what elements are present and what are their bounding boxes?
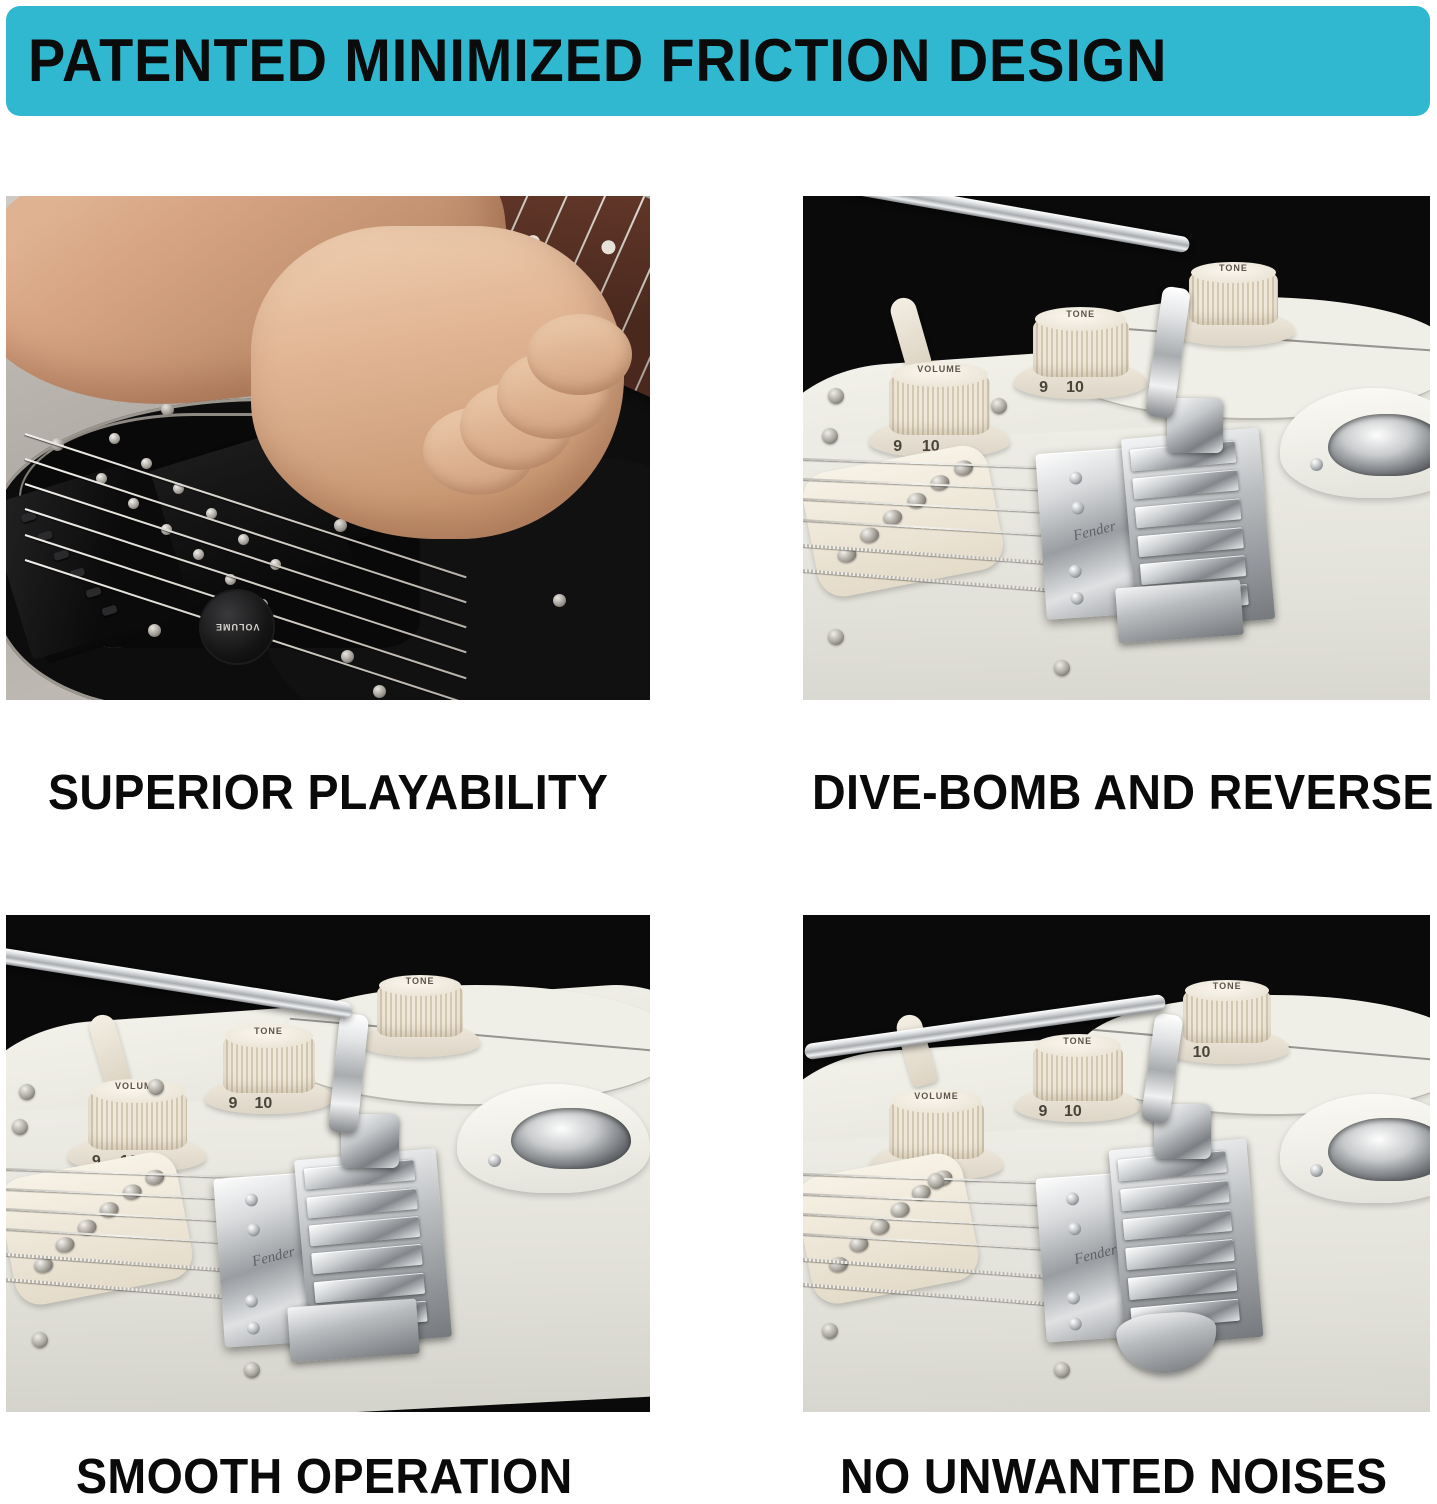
- output-jack: [1328, 414, 1430, 476]
- volume-knob-label: VOLUME: [83, 1081, 191, 1091]
- output-jack: [1328, 1118, 1430, 1181]
- volume-knob-label: VOLUME: [215, 622, 260, 632]
- tone-knob-2-label: TONE: [1179, 981, 1275, 991]
- player-hand: [251, 226, 625, 538]
- photo-dive-bomb-and-reverse: VOLUME 9 10 TONE 9 10 TONE: [803, 196, 1430, 700]
- tone-knob-1: TONE 9 10: [219, 1024, 319, 1114]
- knob-number-9: 9: [1039, 1103, 1048, 1121]
- output-jack: [511, 1108, 631, 1169]
- caption-smooth-operation: SMOOTH OPERATION: [76, 1453, 573, 1502]
- tone-knob-2: TONE: [1185, 262, 1281, 346]
- knob-number-10: 10: [255, 1095, 273, 1113]
- photo-no-unwanted-noises: VOLUME 9 10 TONE 9 10 TONE 10: [803, 915, 1430, 1412]
- tone-knob-1-label: TONE: [219, 1026, 319, 1036]
- photo-superior-playability: VOLUME: [6, 196, 650, 700]
- feature-panel-superior-playability: VOLUME: [6, 196, 650, 700]
- volume-knob: VOLUME 9 10: [885, 362, 995, 458]
- knob-number-10: 10: [1066, 379, 1084, 397]
- tone-knob-1-label: TONE: [1029, 309, 1133, 319]
- tone-knob-2: TONE: [373, 975, 467, 1057]
- tone-knob-2-label: TONE: [373, 976, 467, 986]
- knob-number-10: 10: [1193, 1044, 1211, 1062]
- feature-panel-smooth-operation: VOLUME 9 10 TONE 9 10 TONE: [6, 915, 650, 1412]
- volume-knob-label: VOLUME: [885, 364, 995, 374]
- header-banner: PATENTED MINIMIZED FRICTION DESIGN: [6, 6, 1430, 116]
- tremolo-arm-collar: [1167, 398, 1223, 453]
- knob-number-9: 9: [893, 438, 902, 456]
- tremolo-sustain-block: [1115, 580, 1244, 644]
- tremolo-sustain-block: [288, 1298, 420, 1362]
- tone-knob-1: TONE 9 10: [1029, 307, 1133, 399]
- header-title: PATENTED MINIMIZED FRICTION DESIGN: [28, 31, 1167, 91]
- photo-smooth-operation: VOLUME 9 10 TONE 9 10 TONE: [6, 915, 650, 1412]
- tone-knob-2: TONE 10: [1179, 980, 1275, 1064]
- tone-knob-1-label: TONE: [1029, 1036, 1127, 1046]
- volume-knob-label: VOLUME: [885, 1091, 989, 1101]
- caption-no-unwanted-noises: NO UNWANTED NOISES: [840, 1453, 1387, 1502]
- tone-knob-2-label: TONE: [1185, 263, 1281, 273]
- feature-panel-dive-bomb-and-reverse: VOLUME 9 10 TONE 9 10 TONE: [803, 196, 1430, 700]
- volume-knob: VOLUME: [199, 589, 275, 665]
- knob-number-9: 9: [229, 1095, 238, 1113]
- caption-dive-bomb-and-reverse: DIVE-BOMB AND REVERSE: [812, 769, 1434, 818]
- feature-panel-no-unwanted-noises: VOLUME 9 10 TONE 9 10 TONE 10: [803, 915, 1430, 1412]
- caption-superior-playability: SUPERIOR PLAYABILITY: [48, 769, 608, 818]
- knob-number-10: 10: [1064, 1103, 1082, 1121]
- knob-number-9: 9: [1039, 379, 1048, 397]
- tone-knob-1: TONE 9 10: [1029, 1034, 1127, 1122]
